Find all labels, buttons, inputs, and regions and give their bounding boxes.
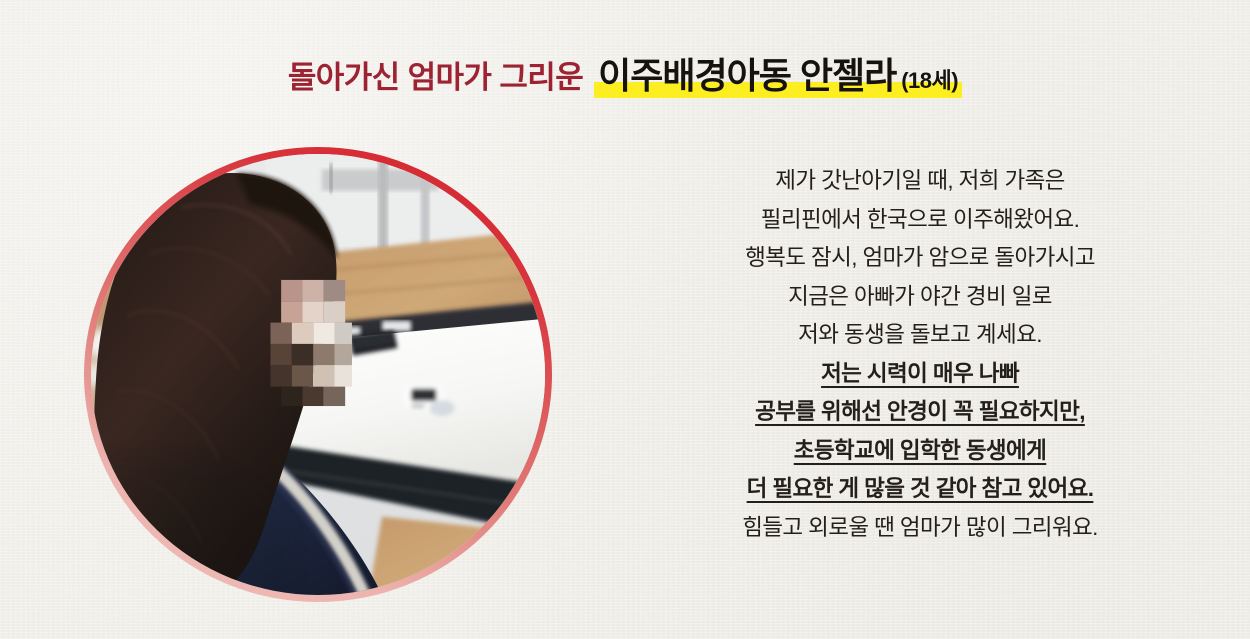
photo-frame [84,147,552,602]
testimony-line-4: 지금은 아빠가 야간 경비 일로 [620,278,1220,317]
testimony-line-8: 초등학교에 입학한 동생에게 [620,432,1220,471]
face-mosaic [270,280,351,406]
testimony-line-3: 행복도 잠시, 엄마가 암으로 돌아가시고 [620,239,1220,278]
testimony-line-1: 제가 갓난아기일 때, 저희 가족은 [620,162,1220,201]
student-photo [91,154,545,595]
testimony-block: 제가 갓난아기일 때, 저희 가족은 필리핀에서 한국으로 이주해왔어요. 행복… [620,162,1220,547]
testimony-line-5: 저와 동생을 돌보고 계세요. [620,316,1220,355]
headline-name: 이주배경아동 안젤라 [598,55,896,96]
poster-canvas: 돌아가신 엄마가 그리운이주배경아동 안젤라(18세) [0,0,1250,639]
headline-prefix: 돌아가신 엄마가 그리운 [288,60,583,95]
headline-age: (18세) [901,68,958,93]
headline: 돌아가신 엄마가 그리운이주배경아동 안젤라(18세) [0,58,1250,95]
testimony-line-2: 필리핀에서 한국으로 이주해왔어요. [620,201,1220,240]
testimony-line-7: 공부를 위해선 안경이 꼭 필요하지만, [620,393,1220,432]
testimony-line-9: 더 필요한 게 많을 것 같아 참고 있어요. [620,470,1220,509]
testimony-line-10: 힘들고 외로울 땐 엄마가 많이 그리워요. [620,509,1220,548]
photo-illustration [91,154,545,595]
testimony-line-6: 저는 시력이 매우 나빠 [620,355,1220,394]
headline-highlight: 이주배경아동 안젤라(18세) [594,58,962,95]
